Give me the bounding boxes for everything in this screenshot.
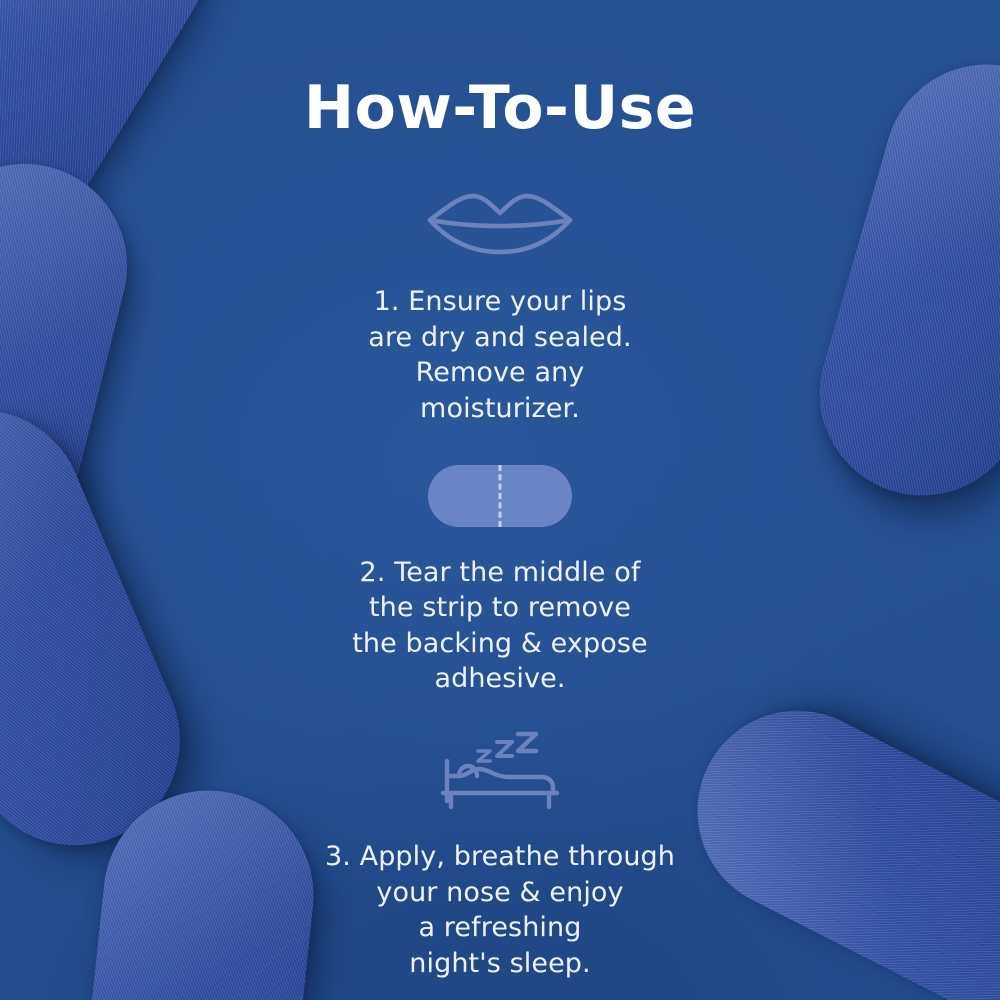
step-1: 1. Ensure your lips are dry and sealed. … — [368, 182, 631, 427]
bed-sleep-icon — [437, 731, 563, 817]
step-3: 3. Apply, breathe through your nose & en… — [325, 731, 675, 982]
step-3-icon-wrap — [325, 731, 675, 817]
step-1-icon-wrap — [368, 182, 631, 260]
tear-line-icon — [498, 465, 501, 527]
step-2-icon-wrap — [352, 465, 647, 527]
step-2: 2. Tear the middle of the strip to remov… — [352, 465, 647, 698]
lips-icon — [426, 182, 574, 260]
content-column: How-To-Use 1. Ensure your lips are dry a… — [0, 0, 1000, 1000]
mouth-strip-icon — [428, 465, 572, 527]
step-1-text: 1. Ensure your lips are dry and sealed. … — [368, 284, 631, 427]
how-to-use-poster: How-To-Use 1. Ensure your lips are dry a… — [0, 0, 1000, 1000]
step-2-text: 2. Tear the middle of the strip to remov… — [352, 555, 647, 698]
step-3-text: 3. Apply, breathe through your nose & en… — [325, 839, 675, 982]
page-title: How-To-Use — [304, 0, 696, 138]
